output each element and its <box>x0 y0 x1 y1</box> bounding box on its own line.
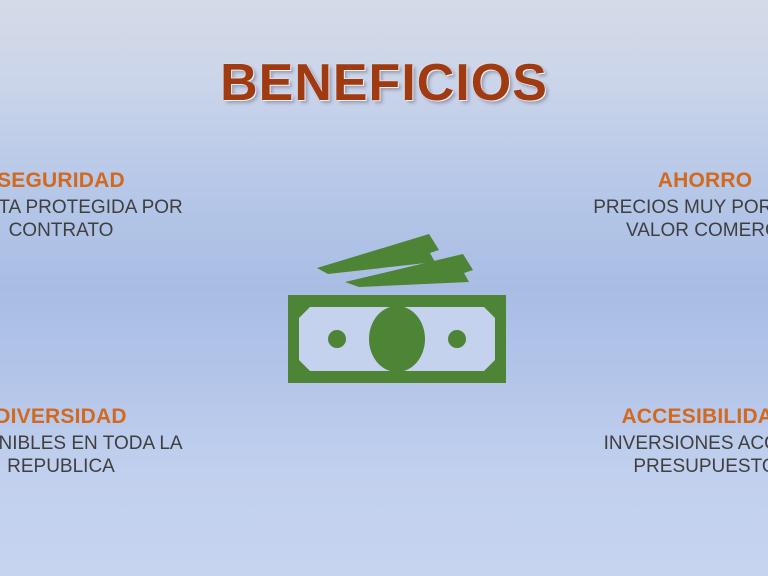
banknote-right-dot <box>448 330 466 348</box>
benefit-body-line: INVERSIONES ACORD <box>540 432 768 455</box>
benefit-body-line: PRECIOS MUY POR DEB <box>540 196 768 219</box>
benefit-block-ahorro: AHORRO PRECIOS MUY POR DEB VALOR COMERCI <box>540 168 768 242</box>
benefit-body-seguridad: ON ESTA PROTEGIDA POR CONTRATO <box>0 196 226 242</box>
benefit-body-line: ON ESTA PROTEGIDA POR <box>0 196 226 219</box>
benefit-body-line: REPUBLICA <box>0 455 226 478</box>
benefit-body-diversidad: DISPONIBLES EN TODA LA REPUBLICA <box>0 432 226 478</box>
presentation-slide: BENEFICIOS SEGURIDAD ON ESTA PROTEGIDA P… <box>0 0 768 576</box>
benefit-body-line: VALOR COMERCI <box>540 219 768 242</box>
page-title: BENEFICIOS <box>0 57 768 109</box>
benefit-block-accesibilidad: ACCESIBILIDAD INVERSIONES ACORD PRESUPUE… <box>540 404 768 478</box>
benefit-title-seguridad: SEGURIDAD <box>0 168 226 194</box>
benefit-body-ahorro: PRECIOS MUY POR DEB VALOR COMERCI <box>540 196 768 242</box>
banknote-left-dot <box>328 330 346 348</box>
benefit-body-accesibilidad: INVERSIONES ACORD PRESUPUESTO <box>540 432 768 478</box>
benefit-body-line: PRESUPUESTO <box>540 455 768 478</box>
benefit-body-line: DISPONIBLES EN TODA LA <box>0 432 226 455</box>
benefit-title-ahorro: AHORRO <box>540 168 768 194</box>
benefit-body-line: CONTRATO <box>0 219 226 242</box>
front-banknote <box>288 295 506 383</box>
benefit-block-diversidad: DIVERSIDAD DISPONIBLES EN TODA LA REPUBL… <box>0 404 226 478</box>
benefit-title-diversidad: DIVERSIDAD <box>0 404 226 430</box>
money-banknotes-icon <box>283 228 511 388</box>
benefit-title-accesibilidad: ACCESIBILIDAD <box>540 404 768 430</box>
benefit-block-seguridad: SEGURIDAD ON ESTA PROTEGIDA POR CONTRATO <box>0 168 226 242</box>
banknote-center-seal <box>369 306 425 372</box>
